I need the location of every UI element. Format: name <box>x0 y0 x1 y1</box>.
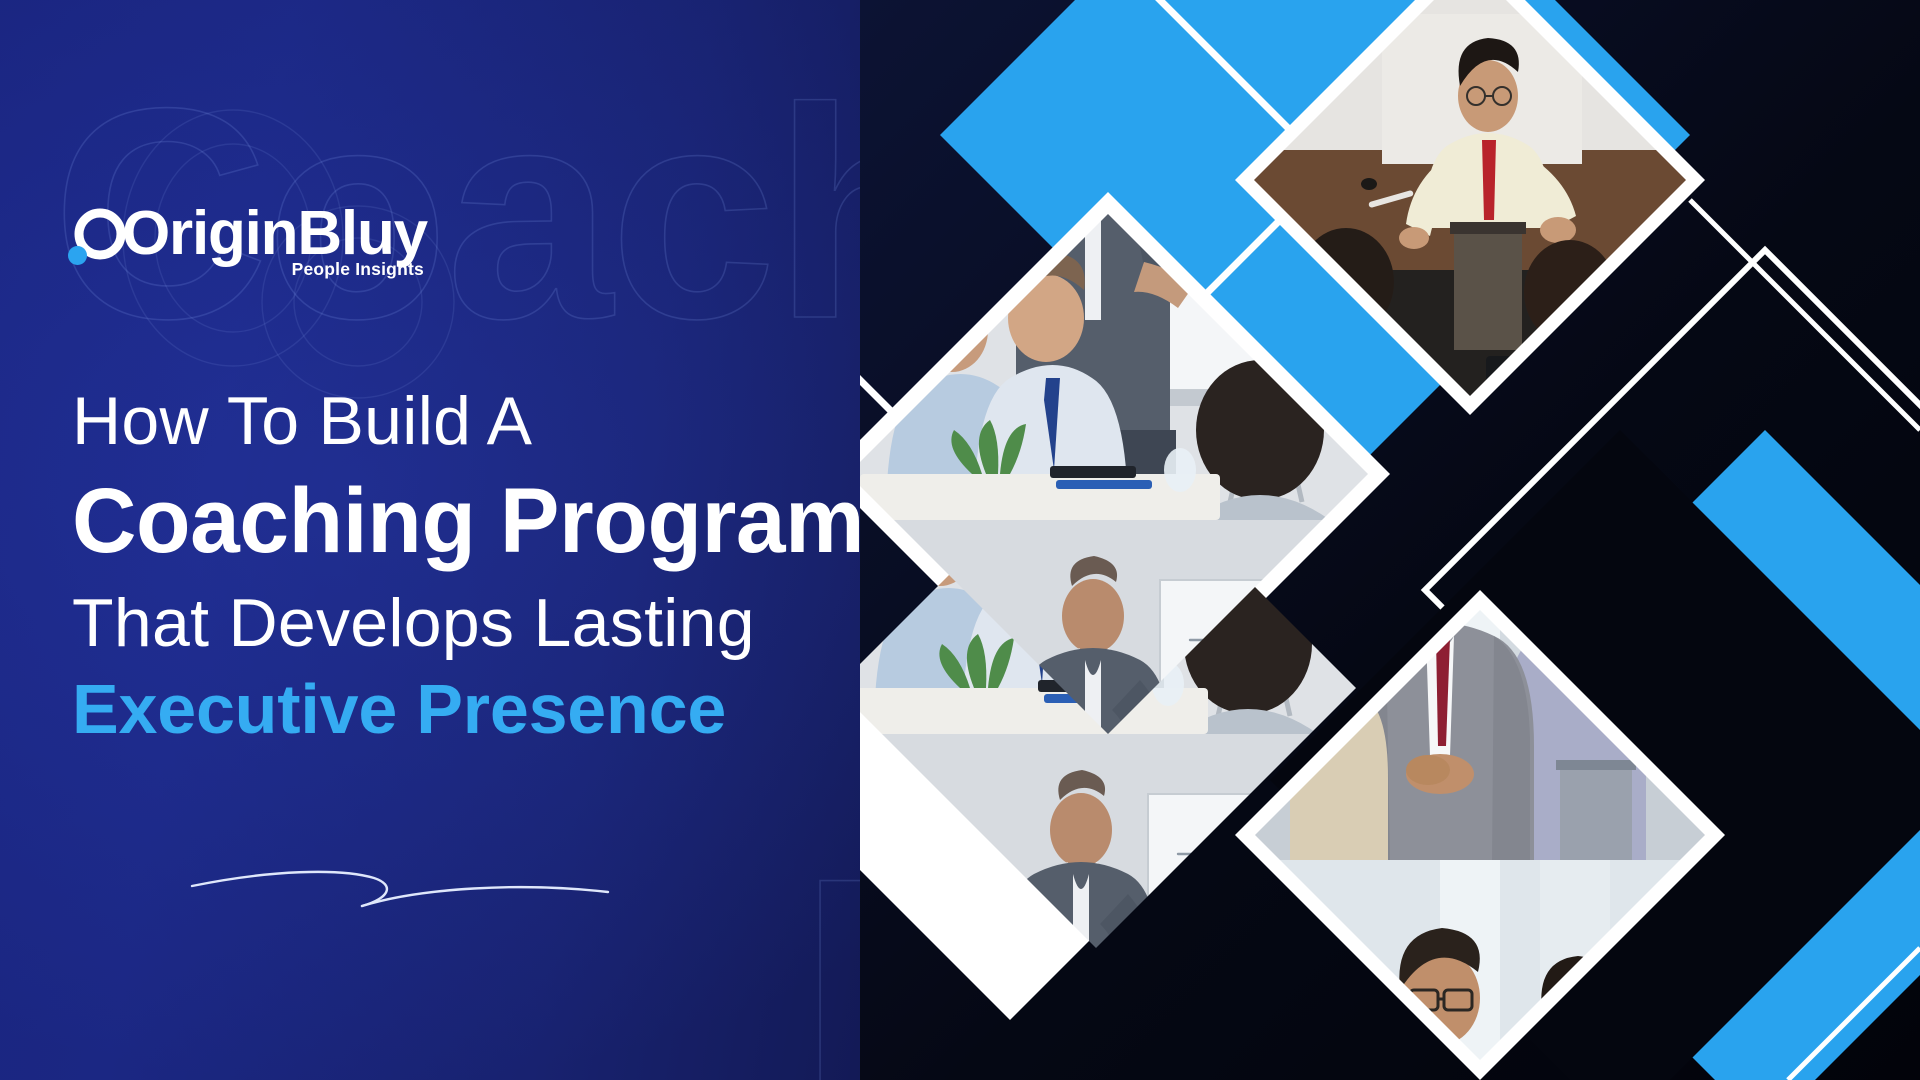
logo-ring-dot-icon <box>66 207 128 269</box>
logo-word-origin: Origin <box>122 199 297 268</box>
decorative-flourish <box>190 862 610 920</box>
brand-logo[interactable]: OriginBluy People Insights <box>66 203 427 269</box>
logo-wordmark: OriginBluy <box>122 203 427 265</box>
banner-canvas: Coaching Program OriginBluy People Insig… <box>0 0 1920 1080</box>
diamond-collage: PR NEW MA SOCIAL MEL INCREASING PRO <box>860 0 1920 1080</box>
logo-word-bluy: Bluy <box>297 199 427 268</box>
logo-tagline: People Insights <box>292 259 424 280</box>
